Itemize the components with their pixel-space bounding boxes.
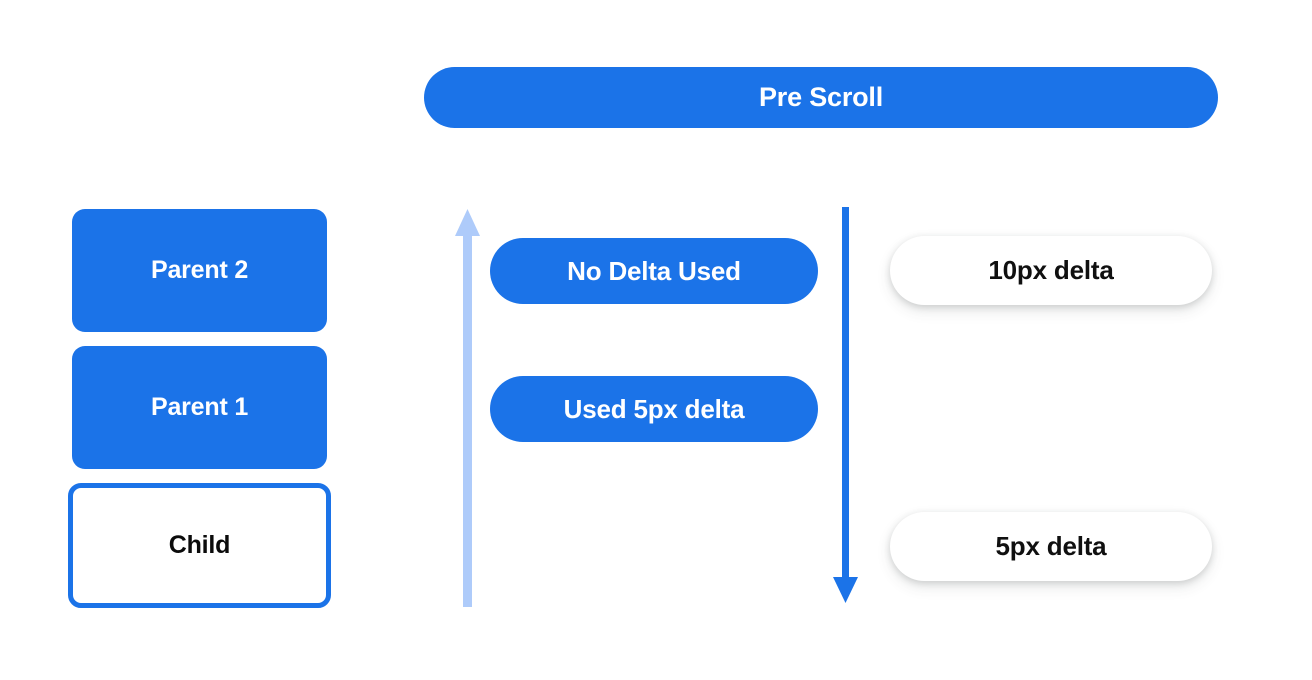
pill-no-delta-used-label: No Delta Used bbox=[567, 256, 741, 287]
pre-scroll-label: Pre Scroll bbox=[759, 82, 883, 113]
pill-used-5px-delta: Used 5px delta bbox=[490, 376, 818, 442]
up-arrow-icon bbox=[452, 207, 484, 607]
pill-10px-delta: 10px delta bbox=[890, 236, 1212, 305]
pill-10px-delta-label: 10px delta bbox=[988, 255, 1113, 286]
box-child-label: Child bbox=[169, 531, 231, 560]
diagram-canvas: Pre Scroll Parent 2 Parent 1 Child No De… bbox=[0, 0, 1312, 680]
box-parent-2: Parent 2 bbox=[72, 209, 327, 332]
pill-no-delta-used: No Delta Used bbox=[490, 238, 818, 304]
box-parent-1-label: Parent 1 bbox=[151, 393, 248, 422]
pill-5px-delta: 5px delta bbox=[890, 512, 1212, 581]
box-child: Child bbox=[68, 483, 331, 608]
pre-scroll-banner: Pre Scroll bbox=[424, 67, 1218, 128]
box-parent-1: Parent 1 bbox=[72, 346, 327, 469]
pill-5px-delta-label: 5px delta bbox=[996, 531, 1107, 562]
box-parent-2-label: Parent 2 bbox=[151, 256, 248, 285]
pill-used-5px-delta-label: Used 5px delta bbox=[564, 394, 745, 425]
down-arrow-icon bbox=[830, 207, 862, 607]
